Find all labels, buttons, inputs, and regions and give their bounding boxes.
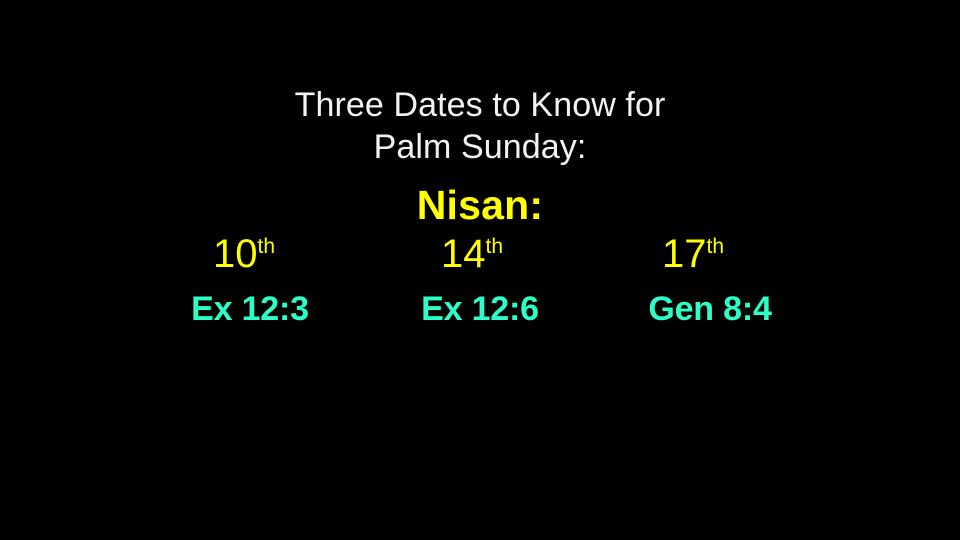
dates-row: 10th Ex 12:3 14th Ex 12:6 17th Gen 8:4	[150, 232, 810, 329]
ordinal-date-2: 14th	[441, 232, 503, 283]
ordinal-suffix-3: th	[706, 235, 724, 258]
slide-title-line-2: Palm Sunday:	[0, 126, 960, 168]
slide-title: Three Dates to Know for Palm Sunday:	[0, 84, 960, 168]
ordinal-date-3: 17th	[662, 232, 724, 283]
presentation-slide: Three Dates to Know for Palm Sunday: Nis…	[0, 0, 960, 540]
ordinal-suffix-1: th	[257, 235, 275, 258]
ordinal-number-2: 14	[441, 232, 486, 276]
ordinal-number-1: 10	[213, 232, 258, 276]
scripture-reference-1: Ex 12:3	[191, 289, 309, 329]
date-column-3: 17th Gen 8:4	[610, 232, 810, 329]
date-column-2: 14th Ex 12:6	[380, 232, 580, 329]
ordinal-date-1: 10th	[213, 232, 275, 283]
scripture-reference-2: Ex 12:6	[421, 289, 539, 329]
date-column-1: 10th Ex 12:3	[150, 232, 350, 329]
month-heading: Nisan:	[0, 182, 960, 228]
slide-title-line-1: Three Dates to Know for	[0, 84, 960, 126]
scripture-reference-3: Gen 8:4	[648, 289, 771, 329]
ordinal-suffix-2: th	[485, 235, 503, 258]
ordinal-number-3: 17	[662, 232, 707, 276]
